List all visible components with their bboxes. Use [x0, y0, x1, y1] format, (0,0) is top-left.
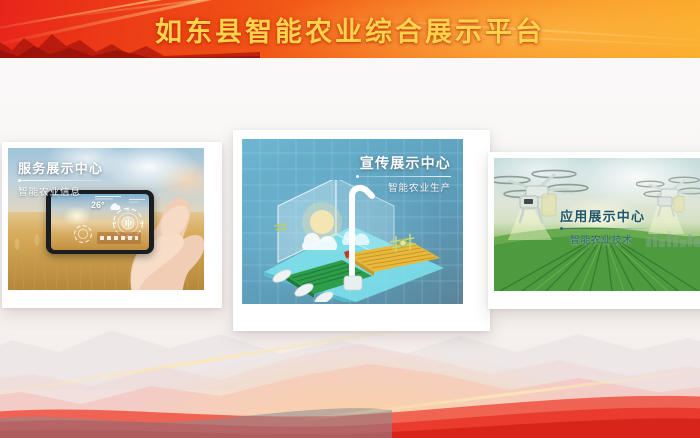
- phone-screen: 26°: [51, 194, 149, 250]
- label-dot: [356, 175, 359, 178]
- label-divider: [359, 176, 451, 177]
- label-dot: [560, 227, 563, 230]
- card-promotion-label: 宣传展示中心 智能农业生产: [359, 153, 451, 194]
- card-service-title: 服务展示中心: [18, 158, 103, 177]
- card-application-subtitle: 智能农业技术: [570, 232, 646, 246]
- card-application-photo: 应用展示中心 智能农业技术: [494, 158, 700, 291]
- card-application[interactable]: 应用展示中心 智能农业技术: [488, 152, 700, 309]
- page-title: 如东县智能农业综合展示平台: [0, 0, 700, 58]
- card-promotion-photo: 宣传展示中心 智能农业生产: [242, 139, 463, 304]
- card-service-subtitle: 智能农业信息: [18, 184, 103, 198]
- card-application-title: 应用展示中心: [560, 206, 646, 225]
- card-promotion-title: 宣传展示中心: [359, 153, 451, 173]
- photo-phone: 26°: [46, 190, 154, 254]
- phone-info-chips: [97, 232, 141, 244]
- card-promotion-subtitle: 智能农业生产: [359, 180, 451, 194]
- isometric-farm-scene: [248, 180, 458, 302]
- label-divider: [560, 228, 646, 229]
- card-service[interactable]: 26°: [2, 142, 222, 308]
- background-dark-ridge: [0, 398, 392, 438]
- gauge-icon: [73, 224, 93, 244]
- phone-temperature: 26°: [91, 200, 105, 210]
- card-service-photo: 26°: [8, 148, 204, 290]
- phone-status-bars: [129, 196, 145, 204]
- card-service-label: 服务展示中心 智能农业信息: [18, 158, 103, 198]
- platform-showcase-page: 如东县智能农业综合展示平台: [0, 0, 700, 438]
- card-application-label: 应用展示中心 智能农业技术: [560, 206, 646, 246]
- label-divider: [18, 180, 102, 181]
- card-promotion[interactable]: 宣传展示中心 智能农业生产: [233, 130, 490, 331]
- label-dot: [18, 179, 21, 182]
